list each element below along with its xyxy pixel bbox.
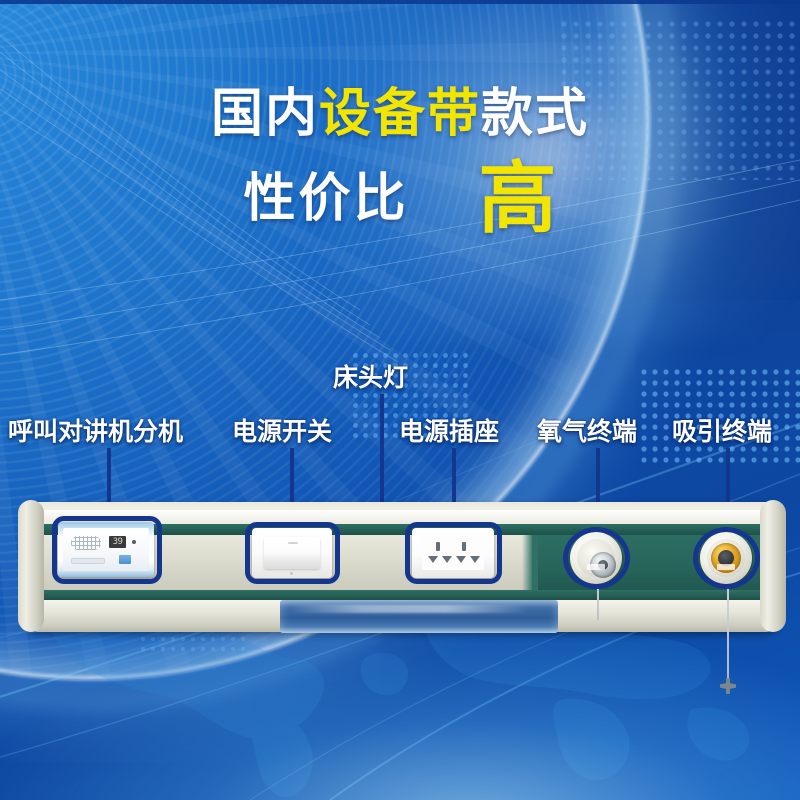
headline-seg-3: 款式	[481, 84, 589, 144]
top-edge-band	[0, 0, 800, 4]
headline-line-2: 性价比 高	[0, 160, 800, 238]
highlight-ellipse-oxygen	[563, 527, 630, 589]
highlight-box-power-socket	[405, 522, 502, 584]
highlight-box-power-switch	[245, 522, 340, 584]
bottom-light-glow	[0, 620, 800, 800]
callout-label-suction: 吸引终端	[672, 412, 772, 448]
panel-end-cap-right	[760, 500, 786, 632]
poster-stage: 国内设备带款式 性价比 高 呼叫对讲机分机 电源开关 床头灯 电源插座 氧气终端…	[0, 0, 800, 800]
callout-label-bed-lamp: 床头灯	[333, 358, 408, 394]
suction-terminal-cord	[727, 584, 729, 682]
highlight-ellipse-suction	[693, 527, 760, 589]
callout-label-oxygen: 氧气终端	[537, 412, 637, 448]
subheadline-text: 性价比	[243, 173, 408, 225]
headline-seg-2: 设备带	[319, 84, 481, 144]
panel-end-cap-left	[18, 500, 44, 632]
callout-label-power-socket: 电源插座	[399, 412, 499, 448]
bed-lamp-gloss	[290, 605, 530, 613]
callout-label-power-switch: 电源开关	[232, 412, 332, 448]
oxygen-terminal-cord	[597, 584, 599, 620]
highlight-box-intercom	[52, 516, 162, 584]
headline-line-1: 国内设备带款式	[0, 88, 800, 140]
subheadline-emphasis: 高	[479, 160, 557, 238]
headline-seg-1: 国内	[211, 84, 319, 144]
callout-label-intercom: 呼叫对讲机分机	[8, 412, 183, 448]
